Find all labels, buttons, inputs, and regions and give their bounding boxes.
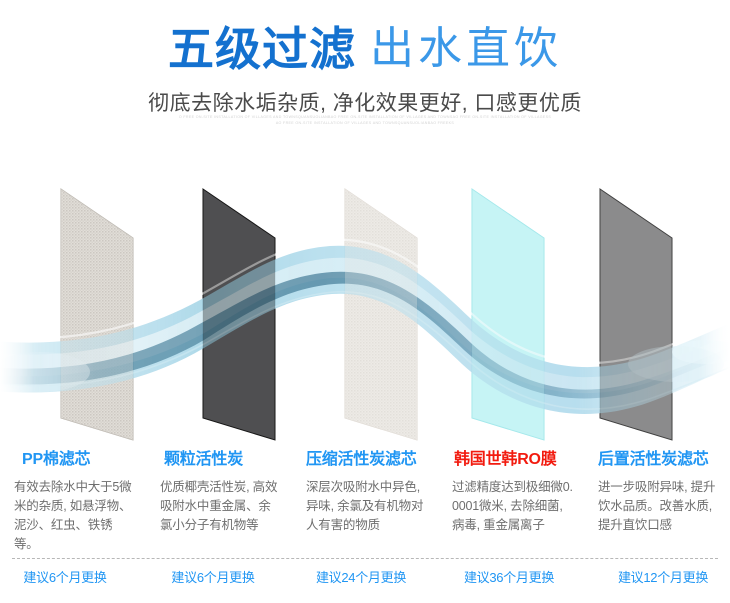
dashed-divider <box>12 558 718 559</box>
filter-column-ro-membrane: 韩国世韩RO膜 过滤精度达到极细微0.0001微米, 去除细菌, 病毒, 重金属… <box>438 452 584 552</box>
title-light-text: 出水直饮 <box>370 24 562 73</box>
filter-panels-svg <box>0 150 730 445</box>
replacement-interval-pp-cotton: 建议6个月更换 <box>0 568 146 596</box>
replacement-interval-post-carbon: 建议12个月更换 <box>584 568 730 596</box>
replacement-interval-ro-membrane: 建议36个月更换 <box>438 568 584 596</box>
replacement-interval-row: 建议6个月更换 建议6个月更换 建议24个月更换 建议36个月更换 建议12个月… <box>0 568 730 596</box>
filter-description-compressed-carbon: 深层次吸附水中异色, 异味, 余氯及有机物对人有害的物质 <box>306 478 428 535</box>
replacement-interval-compressed-carbon: 建议24个月更换 <box>292 568 438 596</box>
header-section: 五级过滤出水直饮 彻底去除水垢杂质, 净化效果更好, 口感更优质 O FREE … <box>0 0 730 150</box>
filter-title-compressed-carbon: 压缩活性炭滤芯 <box>306 452 428 468</box>
decorative-microtext: O FREE ON-SITE INSTALLATION OF VILLAGES … <box>0 114 730 126</box>
filter-column-pp-cotton: PP棉滤芯 有效去除水中大于5微米的杂质, 如悬浮物、泥沙、红虫、铁锈等。 <box>0 452 146 552</box>
product-feature-banner: 五级过滤出水直饮 彻底去除水垢杂质, 净化效果更好, 口感更优质 O FREE … <box>0 0 730 603</box>
filter-title-ro-membrane: 韩国世韩RO膜 <box>452 452 574 468</box>
replacement-interval-granular-carbon: 建议6个月更换 <box>146 568 292 596</box>
page-title: 五级过滤出水直饮 <box>0 26 730 72</box>
filter-description-granular-carbon: 优质椰壳活性炭, 高效吸附水中重金属、余氯小分子有机物等 <box>160 478 282 535</box>
filter-title-post-carbon: 后置活性炭滤芯 <box>598 452 720 468</box>
filter-title-granular-carbon: 颗粒活性炭 <box>160 452 282 468</box>
filter-illustration <box>0 150 730 445</box>
left-fade <box>0 150 34 445</box>
filter-title-pp-cotton: PP棉滤芯 <box>14 452 136 468</box>
filter-column-compressed-carbon: 压缩活性炭滤芯 深层次吸附水中异色, 异味, 余氯及有机物对人有害的物质 <box>292 452 438 552</box>
filter-column-post-carbon: 后置活性炭滤芯 进一步吸附异味, 提升饮水品质。改善水质, 提升直饮口感 <box>584 452 730 552</box>
page-subtitle: 彻底去除水垢杂质, 净化效果更好, 口感更优质 <box>0 87 730 117</box>
microtext-line-2: AO FREE ON-SITE INSTALLATION OF VILLAGES… <box>0 120 730 126</box>
title-strong-text: 五级过滤 <box>168 22 356 76</box>
filter-description-post-carbon: 进一步吸附异味, 提升饮水品质。改善水质, 提升直饮口感 <box>598 478 720 535</box>
right-fade <box>700 150 730 445</box>
filter-columns: PP棉滤芯 有效去除水中大于5微米的杂质, 如悬浮物、泥沙、红虫、铁锈等。 颗粒… <box>0 452 730 552</box>
filter-description-ro-membrane: 过滤精度达到极细微0.0001微米, 去除细菌, 病毒, 重金属离子 <box>452 478 574 535</box>
filter-column-granular-carbon: 颗粒活性炭 优质椰壳活性炭, 高效吸附水中重金属、余氯小分子有机物等 <box>146 452 292 552</box>
filter-description-pp-cotton: 有效去除水中大于5微米的杂质, 如悬浮物、泥沙、红虫、铁锈等。 <box>14 478 136 554</box>
